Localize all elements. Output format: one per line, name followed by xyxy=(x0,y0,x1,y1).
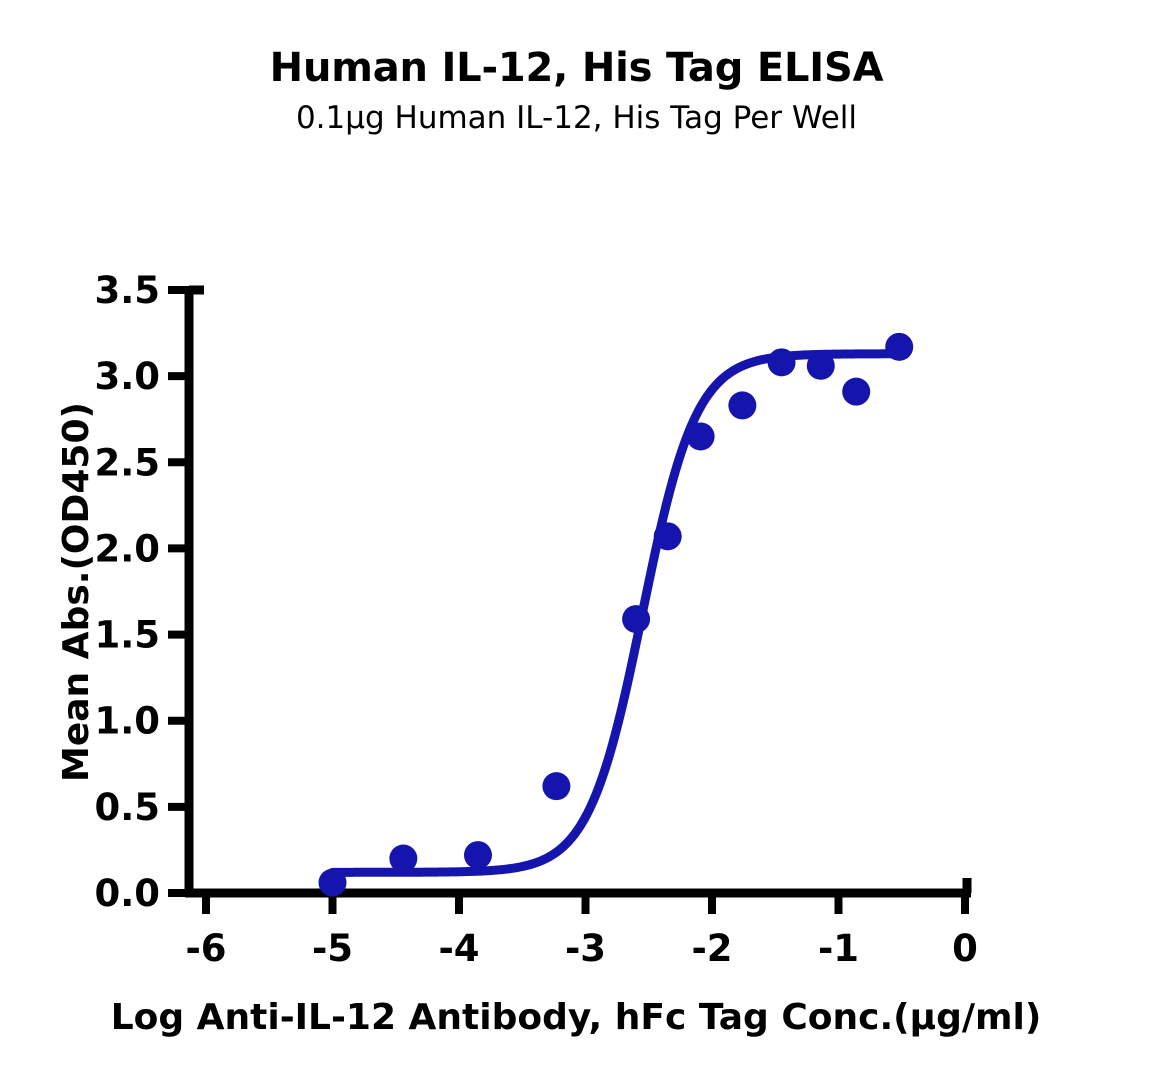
y-axis-title: Mean Abs.(OD450) xyxy=(56,402,97,782)
x-tick-label: -1 xyxy=(818,927,859,970)
elisa-chart-figure: Human IL-12, His Tag ELISA 0.1μg Human I… xyxy=(0,0,1153,1086)
x-tick-label: -2 xyxy=(691,927,732,970)
data-point xyxy=(464,841,492,869)
data-point xyxy=(654,522,682,550)
data-point xyxy=(842,378,870,406)
y-axis-tick-labels: 0.00.51.01.52.02.53.03.5 xyxy=(94,269,160,915)
x-tick-label: 0 xyxy=(952,927,978,970)
y-tick-label: 1.5 xyxy=(94,614,160,657)
y-tick-label: 2.0 xyxy=(94,527,160,570)
x-tick-label: -4 xyxy=(438,927,479,970)
data-point xyxy=(319,869,347,897)
data-point xyxy=(389,845,417,873)
data-point xyxy=(542,772,570,800)
y-tick-label: 3.5 xyxy=(94,269,160,312)
y-tick-label: 1.0 xyxy=(94,700,160,743)
x-tick-label: -3 xyxy=(565,927,606,970)
plot-area: 0.00.51.01.52.02.53.03.5 -6-5-4-3-2-10 L… xyxy=(0,0,1153,1086)
data-point xyxy=(768,348,796,376)
data-point xyxy=(687,422,715,450)
fit-curve xyxy=(333,354,900,873)
data-point xyxy=(807,352,835,380)
y-tick-label: 3.0 xyxy=(94,355,160,398)
data-point xyxy=(622,605,650,633)
y-tick-label: 2.5 xyxy=(94,441,160,484)
y-tick-label: 0.0 xyxy=(94,872,160,915)
x-axis-title: Log Anti-IL-12 Antibody, hFc Tag Conc.(μ… xyxy=(111,997,1042,1038)
data-point xyxy=(728,391,756,419)
data-point-group xyxy=(319,333,914,897)
x-tick-label: -5 xyxy=(312,927,353,970)
x-axis-tick-labels: -6-5-4-3-2-10 xyxy=(185,927,977,970)
y-tick-label: 0.5 xyxy=(94,786,160,829)
data-point xyxy=(885,333,913,361)
x-tick-label: -6 xyxy=(185,927,226,970)
